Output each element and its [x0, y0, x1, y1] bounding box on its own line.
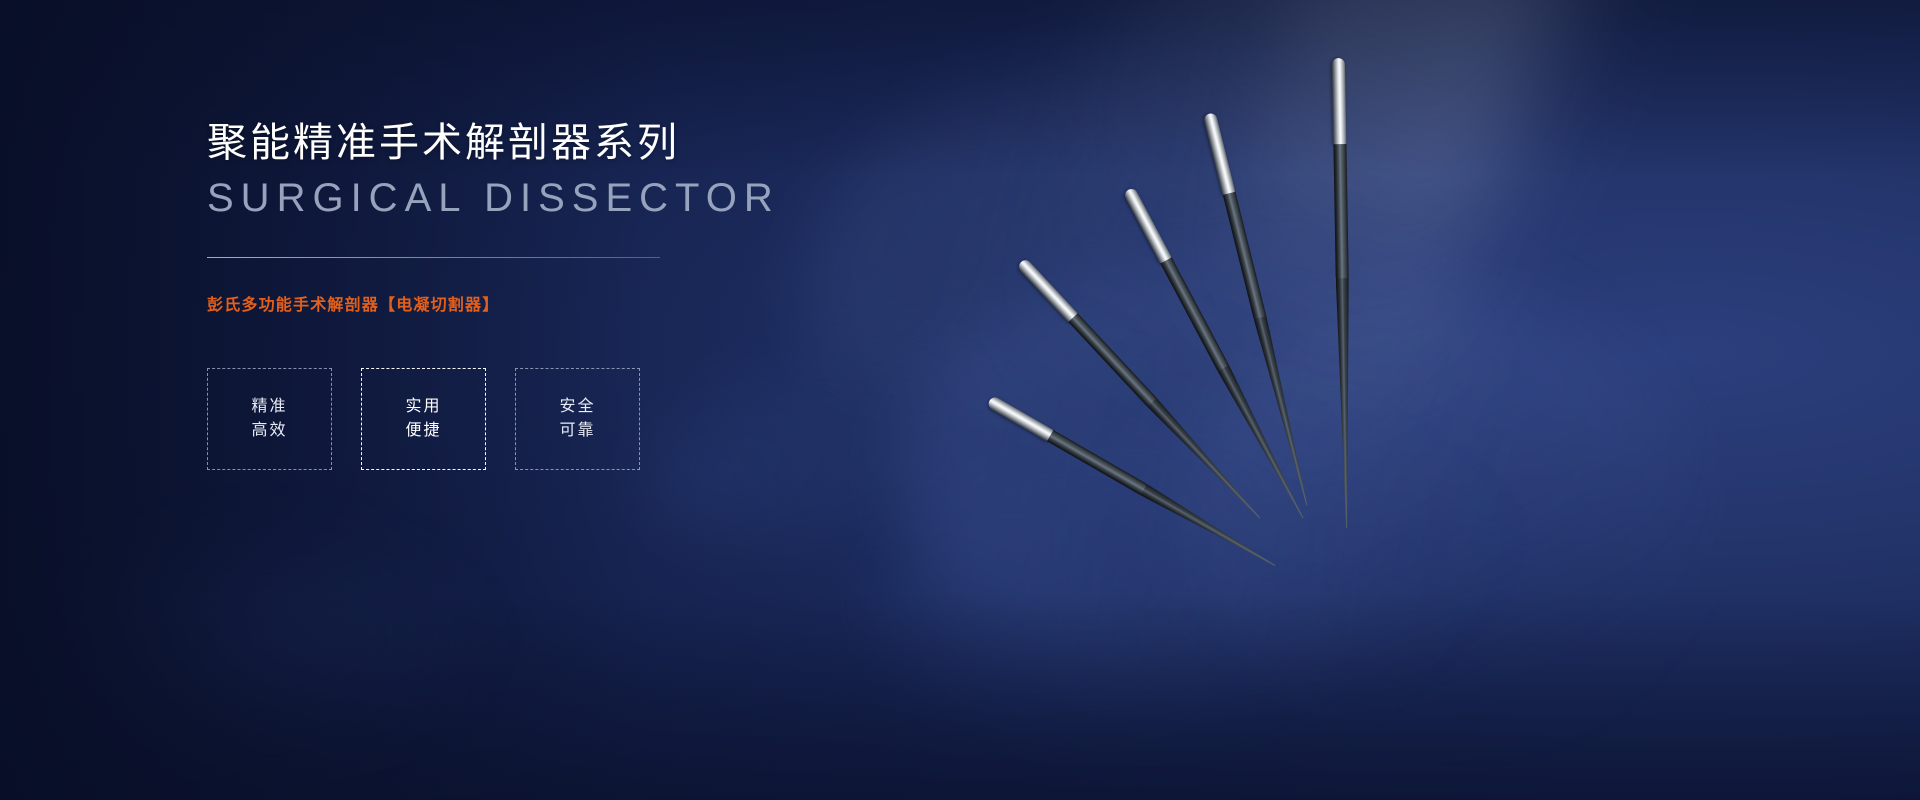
banner-text-block: 聚能精准手术解剖器系列 SURGICAL DISSECTOR 彭氏多功能手术解剖…: [207, 118, 907, 470]
page-subtitle-english: SURGICAL DISSECTOR: [207, 174, 907, 223]
product-name-label: 彭氏多功能手术解剖器【电凝切割器】: [207, 291, 907, 315]
feature-line-2: 便捷: [405, 422, 441, 440]
feature-box-safety: 安全 可靠: [515, 368, 640, 470]
feature-box-practical: 实用 便捷: [361, 368, 486, 470]
feature-line-2: 可靠: [559, 422, 595, 440]
feature-box-list: 精准 高效 实用 便捷 安全 可靠: [207, 368, 907, 470]
feature-line-1: 实用: [405, 398, 441, 416]
title-divider: [207, 257, 660, 258]
feature-line-1: 精准: [251, 398, 287, 416]
page-title: 聚能精准手术解剖器系列: [207, 118, 907, 168]
product-hero-banner: 聚能精准手术解剖器系列 SURGICAL DISSECTOR 彭氏多功能手术解剖…: [0, 0, 1920, 800]
feature-line-2: 高效: [251, 422, 287, 440]
feature-box-precision: 精准 高效: [207, 368, 332, 470]
feature-line-1: 安全: [559, 398, 595, 416]
